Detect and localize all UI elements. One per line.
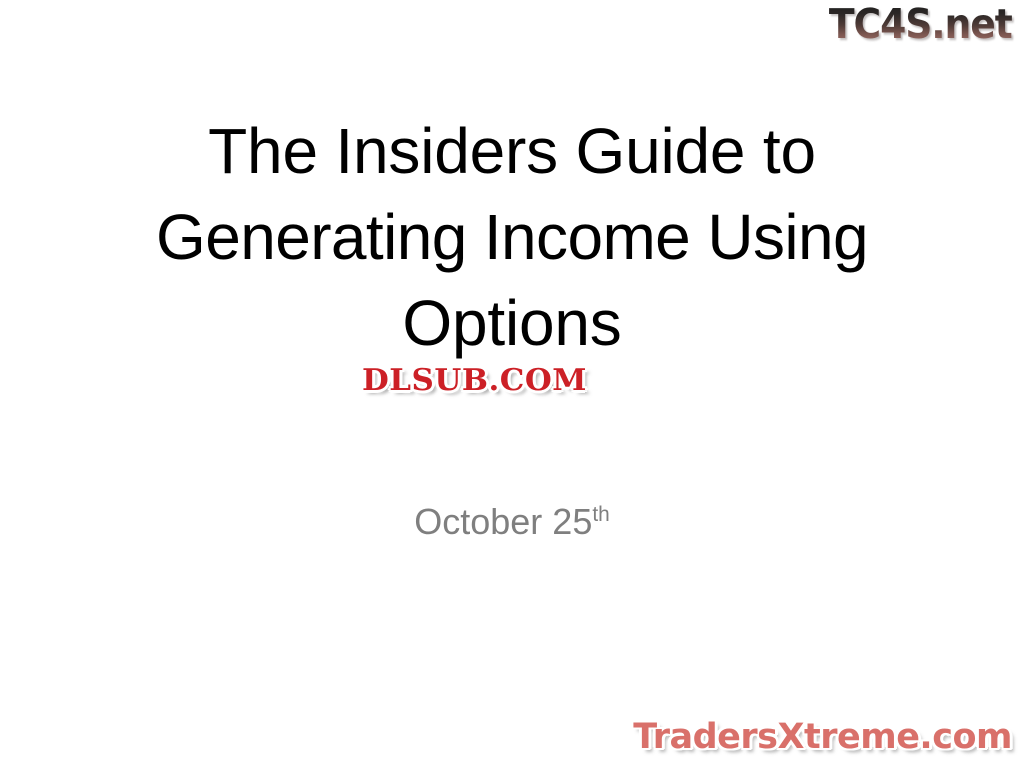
slide-subtitle: October 25th bbox=[60, 500, 964, 544]
slide-title: The Insiders Guide to Generating Income … bbox=[60, 108, 964, 366]
dlsub-com-watermark: DLSUB.COM bbox=[362, 362, 587, 400]
tc4s-net-watermark: TC4S.net bbox=[829, 2, 1012, 46]
subtitle-date-text: October 25 bbox=[414, 501, 592, 542]
title-line-3: Options bbox=[60, 280, 964, 366]
title-line-2: Generating Income Using bbox=[60, 194, 964, 280]
title-line-1: The Insiders Guide to bbox=[60, 108, 964, 194]
presentation-slide: TC4S.net The Insiders Guide to Generatin… bbox=[0, 0, 1024, 768]
subtitle-date: October 25th bbox=[60, 500, 964, 544]
tradersxtreme-com-watermark: TradersXtreme.com bbox=[633, 717, 1012, 757]
subtitle-ordinal-suffix: th bbox=[592, 503, 609, 526]
